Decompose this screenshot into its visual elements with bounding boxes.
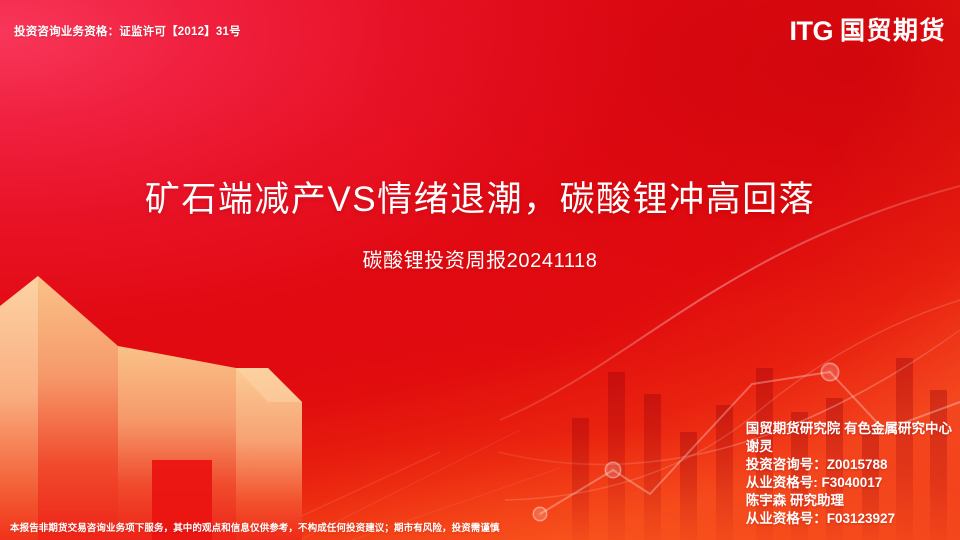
logo-mark-text: ITG [789, 18, 833, 45]
page-title: 矿石端减产VS情绪退潮，碳酸锂冲高回落 [0, 178, 960, 222]
abstract-building-graphic [0, 270, 340, 540]
building-left-face [0, 276, 38, 540]
author-credits-block: 国贸期货研究院 有色金属研究中心 谢灵 投资咨询号：Z0015788 从业资格号… [746, 420, 952, 528]
decorative-data-point [821, 363, 839, 381]
analyst-practice-number: 从业资格号: F3040017 [746, 474, 952, 492]
decorative-data-point [533, 507, 547, 521]
logo-wordmark-text: 国贸期货 [840, 19, 946, 44]
assistant-practice-number: 从业资格号：F03123927 [746, 510, 952, 528]
building-peak-face [38, 276, 118, 540]
assistant-name-title: 陈宇森 研究助理 [746, 492, 952, 510]
title-block: 矿石端减产VS情绪退潮，碳酸锂冲高回落 碳酸锂投资周报20241118 [0, 178, 960, 273]
slide-header: 投资咨询业务资格：证监许可【2012】31号 ITG 国贸期货 [0, 0, 960, 62]
footer-disclaimer: 本报告非期货交易咨询业务项下服务，其中的观点和信息仅供参考，不构成任何投资建议；… [10, 520, 500, 534]
qualification-notice: 投资咨询业务资格：证监许可【2012】31号 [14, 23, 241, 39]
decorative-data-point [605, 462, 621, 478]
itg-logo: ITG 国贸期货 [789, 18, 946, 45]
analyst-consulting-number: 投资咨询号：Z0015788 [746, 456, 952, 474]
author-department: 国贸期货研究院 有色金属研究中心 [746, 420, 952, 438]
page-subtitle: 碳酸锂投资周报20241118 [0, 244, 960, 273]
analyst-name: 谢灵 [746, 438, 952, 456]
report-cover-slide: 投资咨询业务资格：证监许可【2012】31号 ITG 国贸期货 矿石端减产VS情… [0, 0, 960, 540]
